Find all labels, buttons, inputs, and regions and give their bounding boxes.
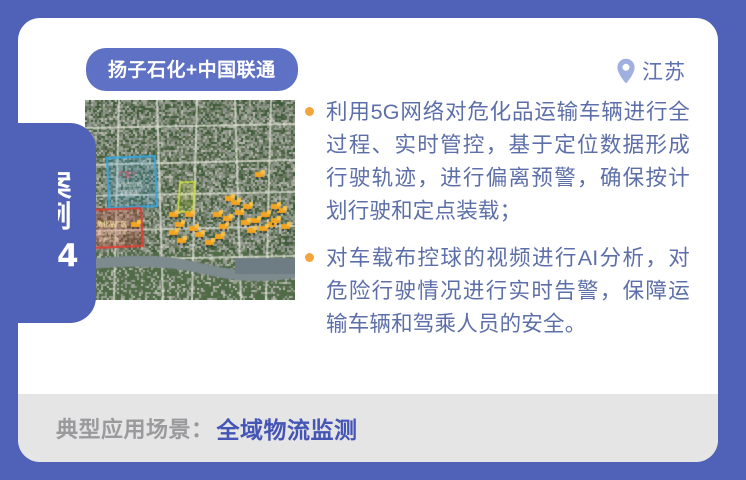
scenario-footer: 典型应用场景： 全域物流监测 (18, 394, 718, 462)
bullet-list: 利用5G网络对危化品运输车辆进行全过程、实时管控，基于定位数据形成行驶轨迹，进行… (305, 96, 690, 355)
bullet-text: 利用5G网络对危化品运输车辆进行全过程、实时管控，基于定位数据形成行驶轨迹，进行… (326, 96, 690, 228)
bullet-text: 对车载布控球的视频进行AI分析，对危险行驶情况进行实时告警，保障运输车辆和驾乘人… (326, 242, 690, 341)
case-tab-bridge (18, 123, 58, 323)
partner-title-badge: 扬子石化+中国联通 (86, 48, 298, 91)
map-pin-icon (616, 58, 636, 84)
bullet-dot-icon (305, 253, 314, 262)
scenario-label: 典型应用场景： (56, 412, 214, 444)
bullet-dot-icon (305, 107, 314, 116)
location-label: 江苏 (642, 56, 686, 86)
list-item: 利用5G网络对危化品运输车辆进行全过程、实时管控，基于定位数据形成行驶轨迹，进行… (305, 96, 690, 228)
satellite-map-image (85, 100, 295, 300)
list-item: 对车载布控球的视频进行AI分析，对危险行驶情况进行实时告警，保障运输车辆和驾乘人… (305, 242, 690, 341)
location-badge: 江苏 (616, 56, 686, 86)
scenario-value: 全域物流监测 (217, 411, 358, 445)
case-card: 利用5G网络对危化品运输车辆进行全过程、实时管控，基于定位数据形成行驶轨迹，进行… (18, 18, 718, 462)
